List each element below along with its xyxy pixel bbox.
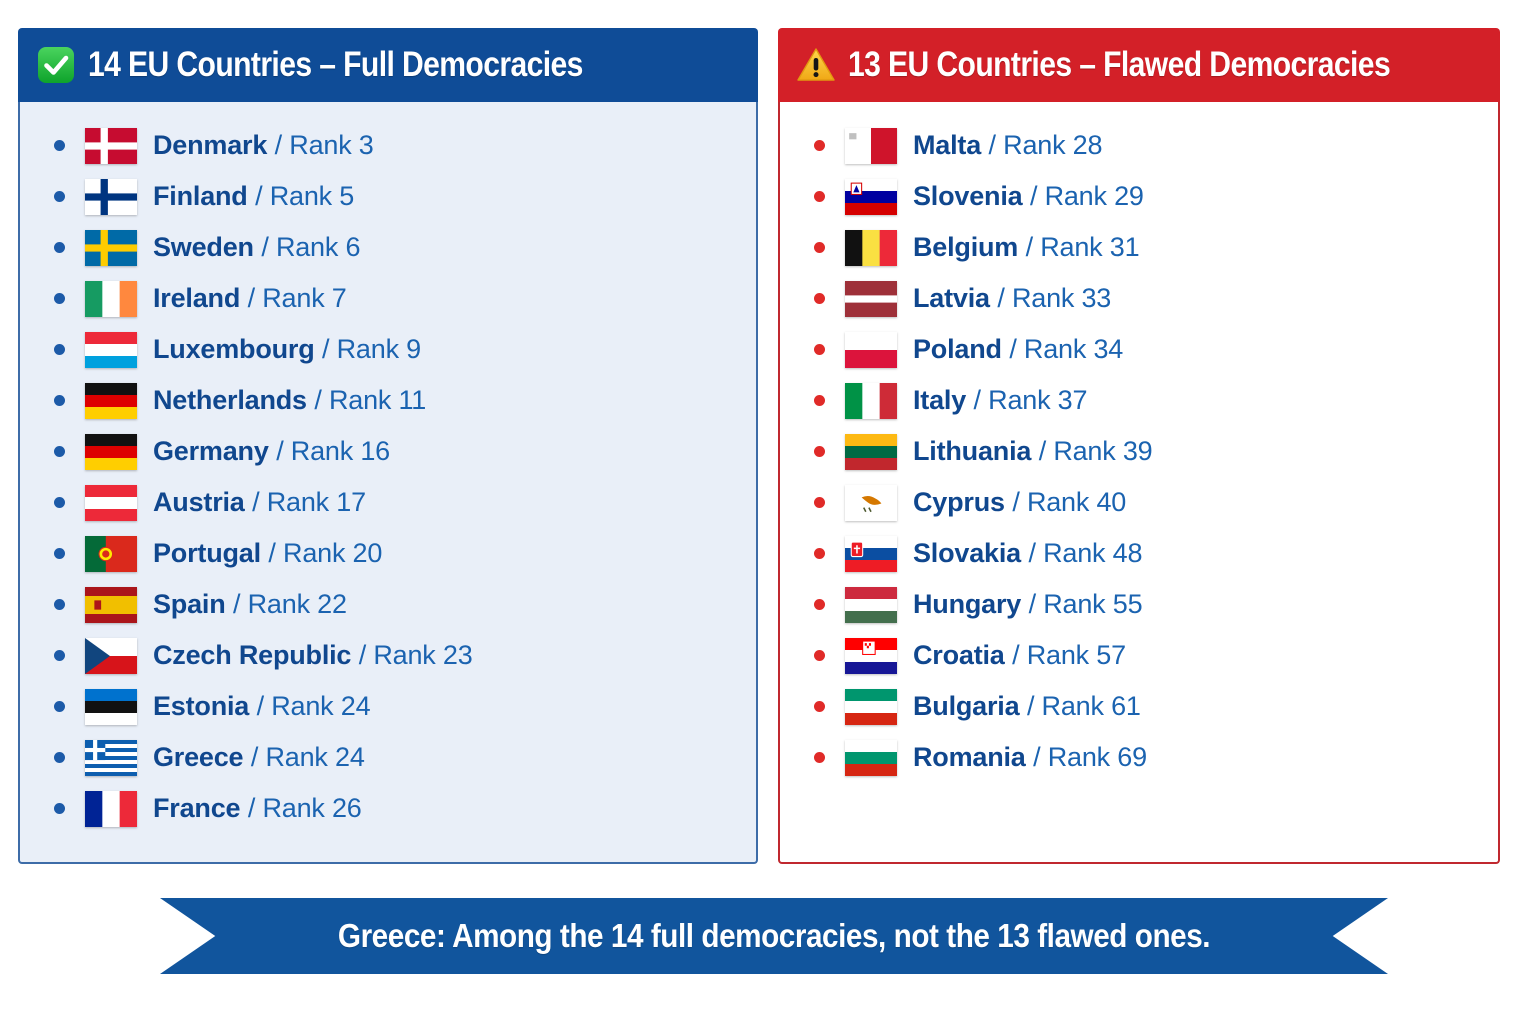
bullet-icon (814, 344, 825, 355)
flag-germany (85, 434, 137, 470)
country-name: Spain (153, 589, 226, 619)
flag-bulgaria (845, 689, 897, 725)
bullet-icon (814, 293, 825, 304)
country-name: Slovenia (913, 181, 1022, 211)
country-name: Romania (913, 742, 1026, 772)
country-rank-text: Finland / Rank 5 (153, 183, 354, 210)
list-item: Denmark / Rank 3 (54, 120, 756, 171)
country-rank-text: Latvia / Rank 33 (913, 285, 1111, 312)
country-rank: / Rank 20 (268, 538, 382, 568)
country-name: France (153, 793, 240, 823)
list-item: Ireland / Rank 7 (54, 273, 756, 324)
country-name: Croatia (913, 640, 1005, 670)
bullet-icon (814, 140, 825, 151)
country-rank: / Rank 11 (314, 385, 426, 415)
country-name: Cyprus (913, 487, 1005, 517)
country-name: Italy (913, 385, 966, 415)
list-item: Luxembourg / Rank 9 (54, 324, 756, 375)
bullet-icon (54, 446, 65, 457)
list-item: France / Rank 26 (54, 783, 756, 834)
country-name: Portugal (153, 538, 261, 568)
panel-full-title: 14 EU Countries – Full Democracies (88, 45, 583, 85)
country-rank: / Rank 7 (248, 283, 347, 313)
flag-portugal (85, 536, 137, 572)
country-rank: / Rank 24 (251, 742, 365, 772)
list-item: Netherlands / Rank 11 (54, 375, 756, 426)
flag-czech-republic (85, 638, 137, 674)
country-rank: / Rank 61 (1027, 691, 1141, 721)
country-rank: / Rank 55 (1029, 589, 1143, 619)
country-rank: / Rank 23 (359, 640, 473, 670)
bullet-icon (54, 344, 65, 355)
flag-italy (845, 383, 897, 419)
country-rank: / Rank 5 (255, 181, 354, 211)
flag-greece (85, 740, 137, 776)
country-rank-text: Poland / Rank 34 (913, 336, 1123, 363)
country-rank-text: Estonia / Rank 24 (153, 693, 370, 720)
list-item: Malta / Rank 28 (814, 120, 1498, 171)
country-name: Netherlands (153, 385, 307, 415)
list-item: Slovenia / Rank 29 (814, 171, 1498, 222)
flag-austria (85, 485, 137, 521)
flag-belgium (845, 230, 897, 266)
country-rank: / Rank 16 (276, 436, 390, 466)
list-item: Sweden / Rank 6 (54, 222, 756, 273)
country-rank: / Rank 28 (989, 130, 1103, 160)
country-name: Poland (913, 334, 1002, 364)
flag-ireland (85, 281, 137, 317)
country-rank: / Rank 69 (1033, 742, 1147, 772)
bullet-icon (814, 191, 825, 202)
country-rank-text: Croatia / Rank 57 (913, 642, 1126, 669)
list-item: Romania / Rank 69 (814, 732, 1498, 783)
country-rank: / Rank 22 (233, 589, 347, 619)
country-rank-text: Denmark / Rank 3 (153, 132, 374, 159)
country-rank: / Rank 29 (1030, 181, 1144, 211)
bullet-icon (54, 650, 65, 661)
flag-germany (85, 383, 137, 419)
list-item: Austria / Rank 17 (54, 477, 756, 528)
country-rank-text: Italy / Rank 37 (913, 387, 1087, 414)
flag-croatia (845, 638, 897, 674)
country-name: Ireland (153, 283, 240, 313)
list-item: Poland / Rank 34 (814, 324, 1498, 375)
country-rank: / Rank 24 (257, 691, 371, 721)
panel-full-header: 14 EU Countries – Full Democracies (18, 28, 758, 102)
panel-flawed-title: 13 EU Countries – Flawed Democracies (848, 45, 1390, 85)
bullet-icon (54, 497, 65, 508)
flag-malta (845, 128, 897, 164)
list-item: Lithuania / Rank 39 (814, 426, 1498, 477)
country-name: Czech Republic (153, 640, 351, 670)
bullet-icon (54, 293, 65, 304)
country-name: Finland (153, 181, 248, 211)
country-rank: / Rank 34 (1009, 334, 1123, 364)
bullet-icon (54, 242, 65, 253)
list-item: Finland / Rank 5 (54, 171, 756, 222)
country-rank: / Rank 48 (1029, 538, 1143, 568)
country-rank-text: Luxembourg / Rank 9 (153, 336, 421, 363)
country-rank-text: Bulgaria / Rank 61 (913, 693, 1141, 720)
list-item: Spain / Rank 22 (54, 579, 756, 630)
country-rank-text: Belgium / Rank 31 (913, 234, 1139, 261)
country-rank: / Rank 3 (275, 130, 374, 160)
panel-full-democracies: 14 EU Countries – Full Democracies Denma… (18, 28, 758, 864)
country-name: Luxembourg (153, 334, 315, 364)
flag-bulgaria-inverted (845, 740, 897, 776)
list-item: Czech Republic / Rank 23 (54, 630, 756, 681)
bullet-icon (814, 599, 825, 610)
infographic-canvas: 14 EU Countries – Full Democracies Denma… (0, 0, 1536, 1024)
country-rank-text: Malta / Rank 28 (913, 132, 1102, 159)
country-rank: / Rank 37 (974, 385, 1088, 415)
country-name: Denmark (153, 130, 267, 160)
country-name: Latvia (913, 283, 990, 313)
country-rank-text: Portugal / Rank 20 (153, 540, 382, 567)
bullet-icon (54, 803, 65, 814)
country-name: Belgium (913, 232, 1018, 262)
country-rank: / Rank 31 (1026, 232, 1140, 262)
country-rank: / Rank 33 (997, 283, 1111, 313)
ribbon-text: Greece: Among the 14 full democracies, n… (221, 898, 1326, 974)
country-name: Bulgaria (913, 691, 1019, 721)
bullet-icon (54, 395, 65, 406)
list-item: Bulgaria / Rank 61 (814, 681, 1498, 732)
panel-full-body: Denmark / Rank 3Finland / Rank 5Sweden /… (18, 102, 758, 864)
bullet-icon (814, 752, 825, 763)
flag-hungary (845, 587, 897, 623)
country-name: Estonia (153, 691, 249, 721)
bullet-icon (814, 650, 825, 661)
country-rank-text: Ireland / Rank 7 (153, 285, 347, 312)
panel-flawed-header: 13 EU Countries – Flawed Democracies (778, 28, 1500, 102)
country-rank: / Rank 26 (248, 793, 362, 823)
country-name: Malta (913, 130, 981, 160)
bullet-icon (814, 242, 825, 253)
country-rank-text: Romania / Rank 69 (913, 744, 1147, 771)
country-name: Slovakia (913, 538, 1021, 568)
country-rank-text: Spain / Rank 22 (153, 591, 347, 618)
white-check-mark-icon (36, 45, 76, 85)
bullet-icon (814, 701, 825, 712)
list-item: Hungary / Rank 55 (814, 579, 1498, 630)
bullet-icon (54, 548, 65, 559)
bullet-icon (54, 752, 65, 763)
list-item: Belgium / Rank 31 (814, 222, 1498, 273)
full-democracies-list: Denmark / Rank 3Finland / Rank 5Sweden /… (54, 120, 756, 834)
flag-latvia (845, 281, 897, 317)
flag-spain (85, 587, 137, 623)
list-item: Germany / Rank 16 (54, 426, 756, 477)
country-rank-text: Greece / Rank 24 (153, 744, 365, 771)
country-name: Sweden (153, 232, 254, 262)
flag-slovakia (845, 536, 897, 572)
country-rank: / Rank 39 (1039, 436, 1153, 466)
list-item: Cyprus / Rank 40 (814, 477, 1498, 528)
bullet-icon (814, 497, 825, 508)
flag-lithuania (845, 434, 897, 470)
flag-poland (845, 332, 897, 368)
country-name: Austria (153, 487, 245, 517)
bullet-icon (54, 191, 65, 202)
bullet-icon (814, 548, 825, 559)
list-item: Croatia / Rank 57 (814, 630, 1498, 681)
country-rank-text: Sweden / Rank 6 (153, 234, 360, 261)
list-item: Portugal / Rank 20 (54, 528, 756, 579)
list-item: Slovakia / Rank 48 (814, 528, 1498, 579)
country-rank: / Rank 6 (261, 232, 360, 262)
country-rank: / Rank 57 (1012, 640, 1126, 670)
flag-france (85, 791, 137, 827)
country-name: Hungary (913, 589, 1021, 619)
panel-flawed-democracies: 13 EU Countries – Flawed Democracies Mal… (778, 28, 1500, 864)
summary-ribbon: Greece: Among the 14 full democracies, n… (160, 898, 1388, 974)
flawed-democracies-list: Malta / Rank 28Slovenia / Rank 29Belgium… (814, 120, 1498, 783)
flag-sweden (85, 230, 137, 266)
panel-flawed-body: Malta / Rank 28Slovenia / Rank 29Belgium… (778, 102, 1500, 864)
country-rank-text: Slovakia / Rank 48 (913, 540, 1142, 567)
bullet-icon (54, 599, 65, 610)
country-rank-text: Lithuania / Rank 39 (913, 438, 1153, 465)
country-name: Lithuania (913, 436, 1031, 466)
country-rank: / Rank 17 (252, 487, 366, 517)
list-item: Greece / Rank 24 (54, 732, 756, 783)
country-rank: / Rank 40 (1012, 487, 1126, 517)
flag-luxembourg (85, 332, 137, 368)
bullet-icon (54, 701, 65, 712)
country-rank-text: Cyprus / Rank 40 (913, 489, 1126, 516)
flag-cyprus (845, 485, 897, 521)
country-name: Germany (153, 436, 269, 466)
country-rank: / Rank 9 (322, 334, 421, 364)
country-rank-text: Austria / Rank 17 (153, 489, 366, 516)
country-rank-text: Czech Republic / Rank 23 (153, 642, 473, 669)
bullet-icon (814, 395, 825, 406)
warning-triangle-icon (796, 45, 836, 85)
country-rank-text: France / Rank 26 (153, 795, 362, 822)
country-name: Greece (153, 742, 243, 772)
flag-denmark (85, 128, 137, 164)
country-rank-text: Hungary / Rank 55 (913, 591, 1142, 618)
flag-finland (85, 179, 137, 215)
list-item: Latvia / Rank 33 (814, 273, 1498, 324)
flag-estonia (85, 689, 137, 725)
country-rank-text: Netherlands / Rank 11 (153, 387, 426, 414)
country-rank-text: Germany / Rank 16 (153, 438, 390, 465)
list-item: Estonia / Rank 24 (54, 681, 756, 732)
bullet-icon (814, 446, 825, 457)
list-item: Italy / Rank 37 (814, 375, 1498, 426)
flag-slovenia (845, 179, 897, 215)
bullet-icon (54, 140, 65, 151)
country-rank-text: Slovenia / Rank 29 (913, 183, 1144, 210)
